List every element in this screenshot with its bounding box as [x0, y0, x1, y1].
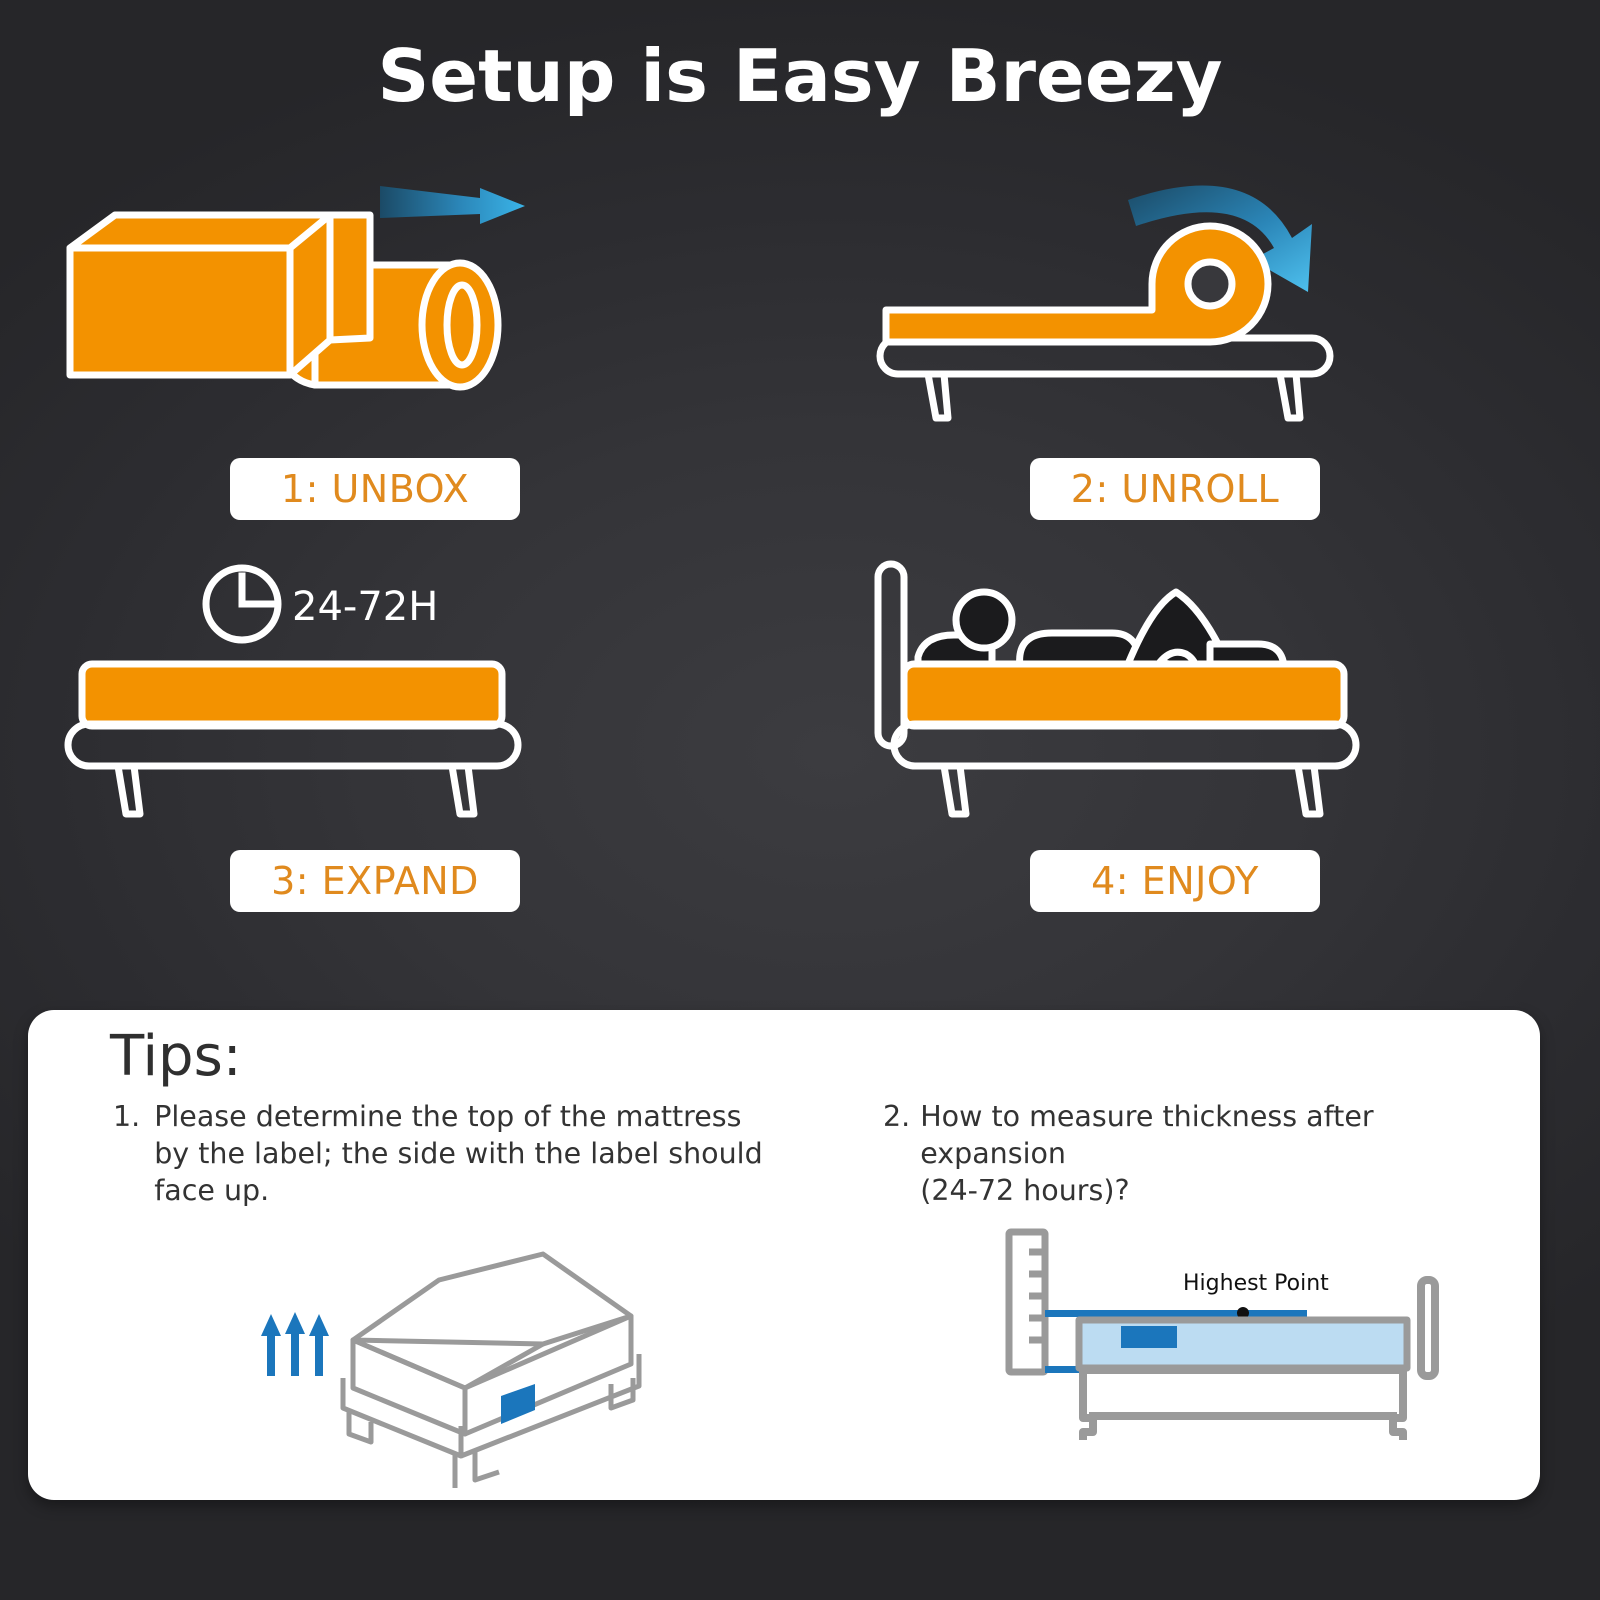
- expand-duration-text: 24-72H: [292, 584, 438, 630]
- ruler-icon: [1009, 1232, 1045, 1372]
- step-label-unroll: 2: UNROLL: [1030, 458, 1320, 520]
- headboard-shape: [878, 564, 904, 746]
- tips-heading: Tips:: [110, 1024, 242, 1089]
- step-unroll: 2: UNROLL: [860, 160, 1560, 540]
- highest-point-label: Highest Point: [1183, 1271, 1329, 1296]
- step-expand: 24-72H 3: EXPAND: [60, 552, 760, 932]
- step-enjoy: 4: ENJOY: [860, 552, 1560, 932]
- tip-2-text: How to measure thickness after expansion…: [920, 1098, 1523, 1209]
- mattress-label-face-up-illustration: [243, 1218, 663, 1488]
- bed-frame-shape: [880, 338, 1330, 418]
- step-label-unbox: 1: UNBOX: [230, 458, 520, 520]
- straight-right-arrow-icon: [380, 186, 525, 224]
- sleeping-person-shape: [918, 592, 1284, 670]
- clock-icon: [206, 568, 278, 640]
- up-arrows-icon: [261, 1312, 329, 1376]
- infographic-page: Setup is Easy Breezy: [0, 0, 1600, 1600]
- tip-item-2: 2. How to measure thickness after expans…: [883, 1098, 1523, 1209]
- expanded-mattress-shape: [82, 664, 502, 726]
- tip-item-1: 1. Please determine the top of the mattr…: [113, 1098, 773, 1209]
- step-unbox: 1: UNBOX: [60, 160, 760, 540]
- tip-1-text: Please determine the top of the mattress…: [154, 1098, 762, 1209]
- mattress-unrolling-on-bed-frame-illustration: [860, 160, 1560, 450]
- flat-mattress-expanding-illustration: 24-72H: [60, 552, 760, 842]
- mattress-shape: [1079, 1320, 1407, 1368]
- page-title: Setup is Easy Breezy: [0, 34, 1600, 118]
- box-with-rolled-mattress-illustration: [60, 160, 760, 450]
- tips-card: Tips: 1. Please determine the top of the…: [28, 1010, 1540, 1500]
- step-label-expand: 3: EXPAND: [230, 850, 520, 912]
- steps-container: 1: UNBOX: [0, 160, 1600, 930]
- mattress-label-tag: [1121, 1326, 1177, 1348]
- tip-1-number: 1.: [113, 1098, 140, 1209]
- step-label-enjoy: 4: ENJOY: [1030, 850, 1320, 912]
- bed-frame-shape: [68, 724, 518, 814]
- person-sleeping-on-mattress-illustration: [860, 552, 1560, 842]
- bed-frame-shape: [894, 724, 1356, 814]
- measure-thickness-with-ruler-illustration: Highest Point: [993, 1218, 1463, 1468]
- mattress-shape: [904, 664, 1344, 726]
- tip-2-number: 2.: [883, 1098, 910, 1209]
- unrolling-mattress-shape: [886, 226, 1268, 342]
